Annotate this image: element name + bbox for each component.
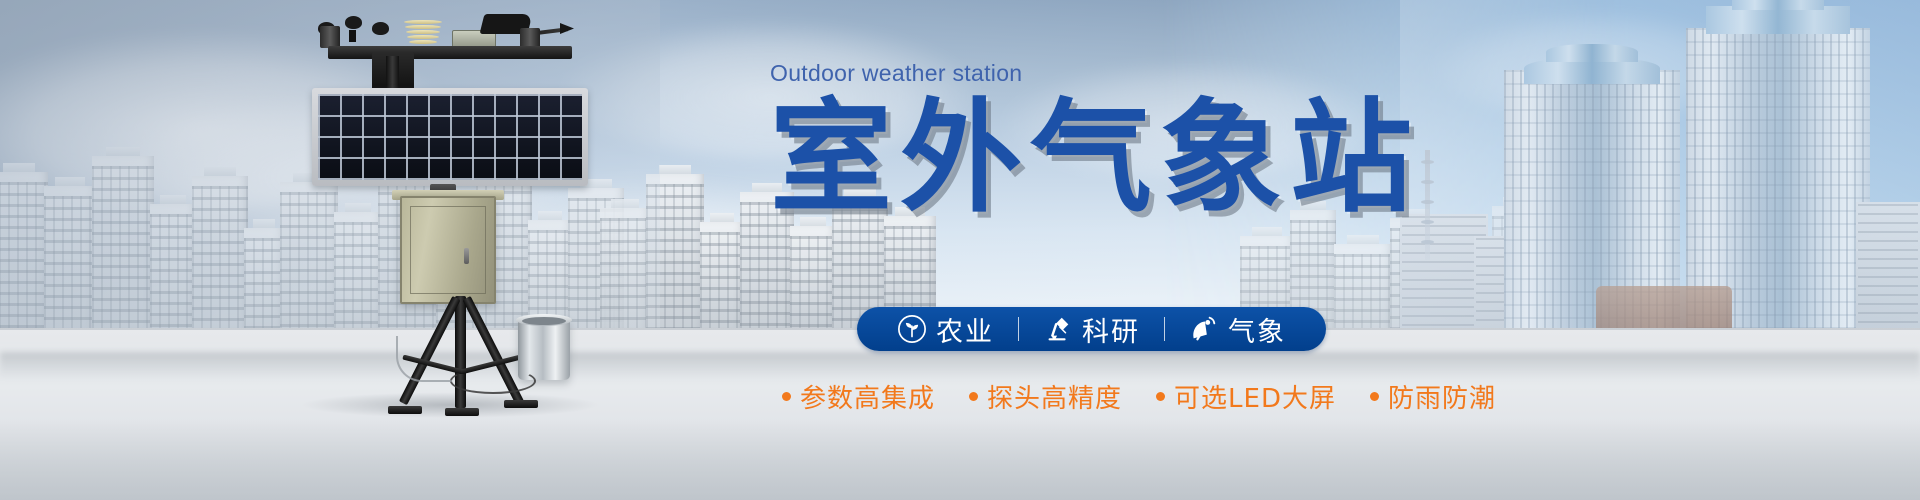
feature-label: 可选LED大屏 [1174,378,1336,415]
tag-pill: 农业 科研 气象 [857,307,1326,351]
feature-item: 防雨防潮 [1370,378,1496,415]
control-cabinet [400,196,496,304]
rain-gauge-funnel [522,317,566,325]
feature-item: 可选LED大屏 [1156,378,1336,415]
anemometer-body [320,26,340,48]
ground-band [0,352,1920,378]
ground-cable [450,368,536,394]
cabinet-door [410,206,486,294]
solar-panel-cells [318,94,582,180]
tag-divider [1018,317,1019,341]
bullet-dot-icon [1370,392,1379,401]
tag-item-meteorology[interactable]: 气象 [1175,310,1300,349]
sprout-circle-icon [897,314,927,344]
rain-gauge [518,318,570,380]
weather-station-product [300,0,630,420]
sensor-crossarm [328,46,572,59]
tag-label: 科研 [1082,310,1140,349]
tag-divider [1164,317,1165,341]
feature-item: 探头高精度 [969,378,1122,415]
eyebrow-text: Outdoor weather station [770,60,1530,87]
mast [386,56,399,88]
sensor-cable [396,336,452,382]
bullet-dot-icon [782,392,791,401]
tag-item-research[interactable]: 科研 [1029,310,1154,349]
feature-list: 参数高集成 探头高精度 可选LED大屏 防雨防潮 [782,378,1496,415]
tag-item-agriculture[interactable]: 农业 [883,310,1008,349]
microscope-icon [1043,314,1073,344]
ground-vignette [0,420,1920,500]
solar-panel [312,88,588,186]
feature-label: 参数高集成 [800,378,935,415]
bullet-dot-icon [969,392,978,401]
feature-label: 探头高精度 [987,378,1122,415]
bullet-dot-icon [1156,392,1165,401]
tag-label: 农业 [936,310,994,349]
cabinet-lock-icon [464,248,469,264]
tag-label: 气象 [1228,310,1286,349]
feature-label: 防雨防潮 [1388,378,1496,415]
headline-block: Outdoor weather station 室外气象站 [770,60,1530,225]
promo-banner: Outdoor weather station 室外气象站 农业 科研 [0,0,1920,500]
satellite-dish-icon [1189,314,1219,344]
page-title: 室外气象站 [770,93,1530,225]
feature-item: 参数高集成 [782,378,935,415]
